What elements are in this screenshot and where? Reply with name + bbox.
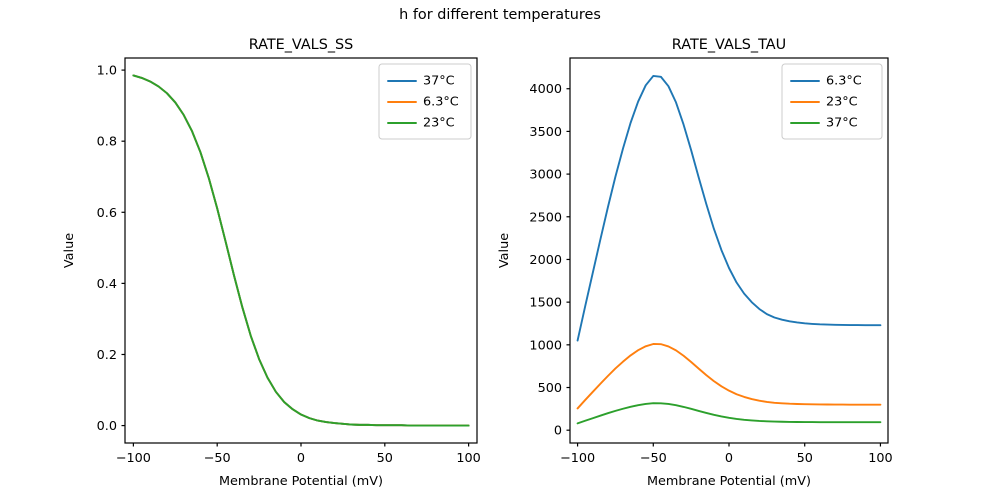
- x-tick-label: −50: [204, 451, 231, 466]
- x-tick-label: 0: [297, 451, 305, 466]
- matplotlib-figure: h for different temperatures RATE_VALS_S…: [0, 0, 1000, 500]
- x-tick-label: 100: [868, 451, 892, 466]
- legend-label: 6.3°C: [826, 74, 862, 89]
- y-tick-label: 4000: [529, 82, 562, 97]
- x-tick-label: −50: [640, 451, 667, 466]
- axes-title-right: RATE_VALS_TAU: [672, 37, 786, 53]
- y-tick-label: 0.0: [97, 419, 117, 434]
- axes-left: RATE_VALS_SS−100−500501000.00.20.40.60.8…: [62, 37, 481, 489]
- y-tick-label: 1.0: [97, 64, 117, 79]
- y-tick-label: 0.4: [97, 277, 117, 292]
- y-tick-label: 1000: [529, 338, 562, 353]
- y-tick-label: 0.6: [97, 206, 117, 221]
- curve-37C: [578, 403, 881, 423]
- legend-label: 37°C: [826, 116, 858, 131]
- legend-label: 23°C: [826, 95, 858, 110]
- x-tick-label: 0: [725, 451, 733, 466]
- plot-surface: RATE_VALS_SS−100−500501000.00.20.40.60.8…: [0, 0, 1000, 500]
- y-axis-label: Value: [497, 233, 512, 268]
- axes-right: RATE_VALS_TAU−100−5005010005001000150020…: [497, 37, 893, 489]
- figure-suptitle: h for different temperatures: [0, 6, 1000, 24]
- y-axis-label: Value: [62, 233, 77, 268]
- axes-title-left: RATE_VALS_SS: [249, 37, 354, 53]
- y-tick-label: 500: [538, 381, 562, 396]
- x-axis-label: Membrane Potential (mV): [219, 474, 383, 489]
- x-tick-label: −100: [116, 451, 151, 466]
- y-tick-label: 2000: [529, 253, 562, 268]
- x-tick-label: −100: [560, 451, 595, 466]
- y-tick-label: 1500: [529, 296, 562, 311]
- curve-23C: [578, 344, 881, 408]
- y-tick-label: 2500: [529, 210, 562, 225]
- legend-label: 37°C: [423, 74, 455, 89]
- y-tick-label: 3000: [529, 168, 562, 183]
- y-tick-label: 3500: [529, 125, 562, 140]
- y-tick-label: 0.2: [97, 348, 117, 363]
- y-tick-label: 0: [554, 424, 562, 439]
- x-axis-label: Membrane Potential (mV): [647, 474, 811, 489]
- y-tick-label: 0.8: [97, 135, 117, 150]
- x-tick-label: 50: [797, 451, 813, 466]
- x-tick-label: 50: [377, 451, 393, 466]
- x-tick-label: 100: [456, 451, 480, 466]
- legend-label: 6.3°C: [423, 95, 459, 110]
- legend-label: 23°C: [423, 116, 455, 131]
